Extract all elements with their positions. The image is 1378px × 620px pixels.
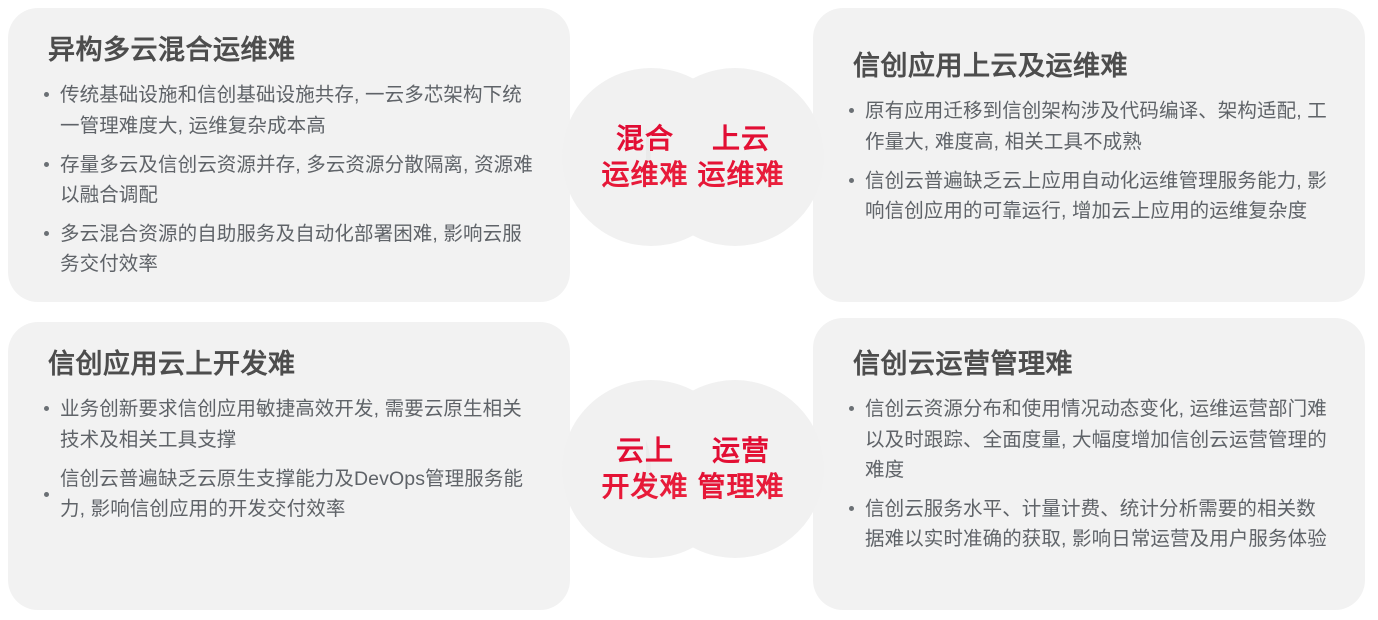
bullet-list: 业务创新要求信创应用敏捷高效开发, 需要云原生相关技术及相关工具支撑 信创云普遍… [44,394,540,524]
bullet-text: 原有应用迁移到信创架构涉及代码编译、架构适配, 工作量大, 难度高, 相关工具不… [865,96,1335,156]
list-item: 存量多云及信创云资源并存, 多云资源分散隔离, 资源难以融合调配 [44,150,540,210]
card-title: 信创应用云上开发难 [48,348,540,380]
venn-label-line1: 运营 [712,433,770,469]
venn-label-right: 上云 运维难 [652,68,830,246]
bullet-dot-icon [849,406,854,411]
list-item: 信创云资源分布和使用情况动态变化, 运维运营部门难以及时跟踪、全面度量, 大幅度… [849,394,1335,485]
list-item: 传统基础设施和信创基础设施共存, 一云多芯架构下统一管理难度大, 运维复杂成本高 [44,80,540,140]
bullet-text: 业务创新要求信创应用敏捷高效开发, 需要云原生相关技术及相关工具支撑 [60,394,540,454]
card-title: 信创应用上云及运维难 [853,50,1335,82]
card-xinchuang-cloud-operations-management: 信创云运营管理难 信创云资源分布和使用情况动态变化, 运维运营部门难以及时跟踪、… [813,318,1365,610]
bullet-dot-icon [849,178,854,183]
card-title: 异构多云混合运维难 [48,34,540,66]
list-item: 信创云普遍缺乏云原生支撑能力及DevOps管理服务能力, 影响信创应用的开发交付… [44,464,540,524]
bullet-dot-icon [44,231,49,236]
bullet-text: 信创云资源分布和使用情况动态变化, 运维运营部门难以及时跟踪、全面度量, 大幅度… [865,394,1335,485]
list-item: 信创云普遍缺乏云上应用自动化运维管理服务能力, 影响信创应用的可靠运行, 增加云… [849,166,1335,226]
list-item: 业务创新要求信创应用敏捷高效开发, 需要云原生相关技术及相关工具支撑 [44,394,540,454]
bullet-dot-icon [849,108,854,113]
bullet-text: 传统基础设施和信创基础设施共存, 一云多芯架构下统一管理难度大, 运维复杂成本高 [60,80,540,140]
list-item: 多云混合资源的自助服务及自动化部署困难, 影响云服务交付效率 [44,219,540,279]
venn-label-right: 运营 管理难 [652,380,830,558]
bullet-dot-icon [44,492,49,497]
bullet-text: 信创云普遍缺乏云原生支撑能力及DevOps管理服务能力, 影响信创应用的开发交付… [60,464,540,524]
list-item: 信创云服务水平、计量计费、统计分析需要的相关数据难以实时准确的获取, 影响日常运… [849,494,1335,554]
bullet-text: 存量多云及信创云资源并存, 多云资源分散隔离, 资源难以融合调配 [60,150,540,210]
bullet-dot-icon [44,92,49,97]
venn-label-line2: 运维难 [697,157,784,193]
bullet-text: 信创云普遍缺乏云上应用自动化运维管理服务能力, 影响信创应用的可靠运行, 增加云… [865,166,1335,226]
bullet-text: 多云混合资源的自助服务及自动化部署困难, 影响云服务交付效率 [60,219,540,279]
bullet-list: 传统基础设施和信创基础设施共存, 一云多芯架构下统一管理难度大, 运维复杂成本高… [44,80,540,279]
bullet-dot-icon [849,506,854,511]
bullet-text: 信创云服务水平、计量计费、统计分析需要的相关数据难以实时准确的获取, 影响日常运… [865,494,1335,554]
bullet-list: 原有应用迁移到信创架构涉及代码编译、架构适配, 工作量大, 难度高, 相关工具不… [849,96,1335,226]
venn-diagram-top: 混合 运维难 上云 运维难 [562,68,824,246]
list-item: 原有应用迁移到信创架构涉及代码编译、架构适配, 工作量大, 难度高, 相关工具不… [849,96,1335,156]
bullet-list: 信创云资源分布和使用情况动态变化, 运维运营部门难以及时跟踪、全面度量, 大幅度… [849,394,1335,554]
venn-diagram-bottom: 云上 开发难 运营 管理难 [562,380,824,558]
venn-label-line2: 管理难 [697,469,784,505]
bullet-dot-icon [44,162,49,167]
card-heterogeneous-multicloud-hybrid-ops: 异构多云混合运维难 传统基础设施和信创基础设施共存, 一云多芯架构下统一管理难度… [8,8,570,302]
card-xinchuang-app-cloud-development: 信创应用云上开发难 业务创新要求信创应用敏捷高效开发, 需要云原生相关技术及相关… [8,322,570,610]
card-title: 信创云运营管理难 [853,348,1335,380]
card-xinchuang-app-cloud-migration-ops: 信创应用上云及运维难 原有应用迁移到信创架构涉及代码编译、架构适配, 工作量大,… [813,8,1365,302]
venn-label-line1: 上云 [712,121,770,157]
bullet-dot-icon [44,406,49,411]
